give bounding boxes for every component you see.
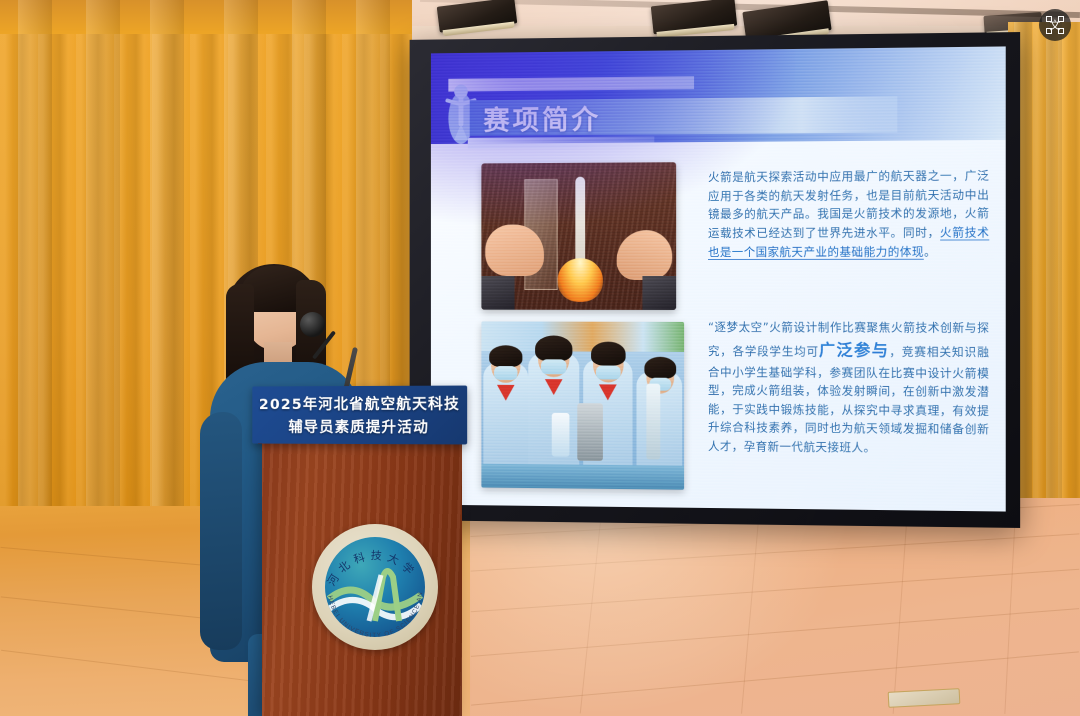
work-desk: [481, 464, 684, 490]
curtain-valance: [0, 0, 412, 34]
red-scarf: [599, 384, 617, 400]
led-presentation-screen: 赛项简介 火箭模型发射照片: [410, 32, 1021, 528]
screen-hotspot: [431, 46, 795, 225]
paragraph-1-tail: 。: [924, 244, 936, 258]
podium-event-sign: 2025年河北省航空航天科技 辅导员素质提升活动: [252, 386, 467, 445]
slide-paragraph-2: “逐梦太空”火箭设计制作比赛聚焦火箭技术创新与探究，各学段学生均可广泛参与，竞赛…: [708, 318, 989, 458]
stage-spotlight: [651, 0, 737, 34]
svg-text:HEBEI UNIVERSITY OF SCIENCE AN: HEBEI UNIVERSITY OF SCIENCE AND TECHNOLO…: [312, 524, 424, 639]
left-sleeve: [481, 276, 514, 310]
student-hair: [489, 345, 522, 367]
left-hand: [485, 224, 544, 276]
right-hand: [617, 230, 672, 280]
face-mask: [494, 366, 517, 380]
stage-spotlight: [437, 0, 518, 33]
screen-surface: 赛项简介 火箭模型发射照片: [431, 46, 1006, 511]
student-hair: [535, 335, 572, 361]
right-sleeve: [642, 276, 676, 310]
student-hair: [591, 342, 626, 366]
red-scarf: [497, 385, 515, 401]
rocket-launcher-stand: [577, 403, 603, 461]
translate-glyph: 文: [1046, 16, 1064, 34]
face-mask: [596, 365, 621, 379]
face-mask: [541, 359, 567, 374]
students-assembling-rocket-photo: 学生组装火箭照片: [481, 321, 684, 489]
crest-english-name: HEBEI UNIVERSITY OF SCIENCE AND TECHNOLO…: [312, 524, 438, 650]
university-crest: 河北科技大学 HEBEI UNIVERSITY OF SCIENCE AND T…: [312, 524, 438, 650]
paragraph-2-emphasis: 广泛参与: [819, 340, 889, 359]
floor-light-reflection: [430, 500, 850, 716]
microphone-head: [300, 312, 325, 337]
rocket-body: [646, 384, 660, 460]
scan-frame-icon: 文: [1046, 16, 1064, 34]
water-bottle: [552, 413, 570, 457]
paragraph-2-tail: ，竞赛相关知识融合中小学生基础学科，参赛团队在比赛中设计火箭模型，完成火箭组装，…: [708, 344, 989, 454]
translate-scan-icon[interactable]: 文: [1039, 9, 1071, 41]
red-scarf: [545, 379, 563, 395]
rocket-flame: [558, 258, 603, 302]
event-title-line-2: 辅导员素质提升活动: [288, 416, 429, 437]
left-arm: [200, 412, 242, 650]
conference-stage-photo: 赛项简介 火箭模型发射照片: [0, 0, 1080, 716]
student-hair: [644, 357, 676, 379]
event-title-line-1: 2025年河北省航空航天科技: [259, 393, 460, 414]
